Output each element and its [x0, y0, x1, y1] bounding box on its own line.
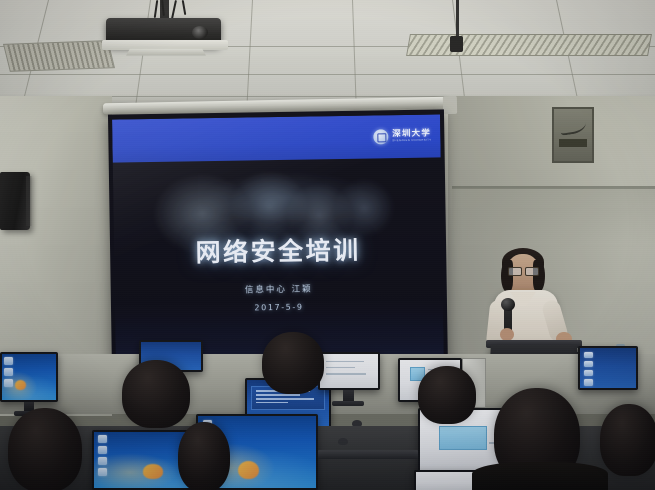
- slide-title: 网络安全培训: [114, 229, 443, 270]
- ceiling-projector: [98, 0, 233, 62]
- microphone-icon: [501, 298, 515, 311]
- projector-mount-plate-lower: [126, 49, 206, 56]
- student-shoulders-5: [472, 462, 608, 490]
- monitor-ws-8: [578, 346, 638, 390]
- university-name-en: SHENZHEN UNIVERSITY: [392, 140, 431, 143]
- projection-screen-roller-end: [443, 96, 457, 114]
- wall-sign-label-bar: [559, 139, 587, 147]
- lab-foreground: [0, 330, 655, 490]
- student-head-2: [122, 360, 190, 428]
- glasses-icon: [508, 267, 538, 274]
- university-name-cn: 深圳大学: [392, 130, 431, 139]
- wall-sign-swoosh-icon: [559, 116, 587, 135]
- university-logo: 深圳大学 SHENZHEN UNIVERSITY: [373, 129, 431, 145]
- mouse-front-center[interactable]: [338, 438, 348, 445]
- student-head-7: [178, 422, 230, 490]
- monitor-ws-4b: [318, 352, 380, 390]
- slide-subtitle: 信息中心 江颖: [115, 281, 443, 298]
- classroom-photo: 深圳大学 SHENZHEN UNIVERSITY 网络安全培训 信息中心 江颖 …: [0, 0, 655, 490]
- projector-cables: [153, 0, 193, 20]
- ceiling-sensor-device: [450, 36, 463, 52]
- whiteboard-panel: [452, 188, 655, 250]
- presenter-hair-left: [501, 260, 513, 292]
- ceiling-hanging-cable: [456, 0, 459, 40]
- slide-brand-band: 深圳大学 SHENZHEN UNIVERSITY: [112, 114, 441, 162]
- slide-date: 2017-5-9: [115, 301, 443, 315]
- ceiling-light-grille: [406, 34, 652, 56]
- monitor-ws-1: [0, 352, 58, 402]
- student-head-3: [262, 332, 324, 394]
- monitor-base-ws-4b: [332, 401, 364, 406]
- presenter-hair-right: [533, 260, 545, 292]
- framed-wall-sign: [552, 107, 594, 163]
- student-head-6: [600, 404, 655, 476]
- projector-lens-icon: [192, 26, 208, 39]
- keyboard-front-center[interactable]: [318, 450, 418, 459]
- university-emblem-icon: [373, 129, 388, 144]
- student-head-1: [8, 408, 82, 490]
- wall-speaker-edge: [26, 176, 32, 226]
- student-head-4: [418, 366, 476, 424]
